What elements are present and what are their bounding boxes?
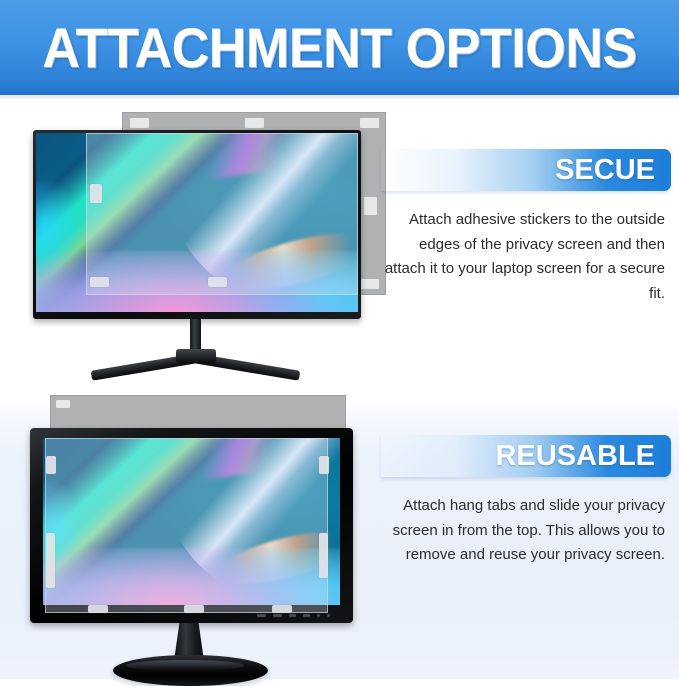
badge-reusable: REUSABLE — [381, 435, 671, 477]
hang-tab — [184, 605, 204, 613]
section-secure: SECUE Attach adhesive stickers to the ou… — [0, 99, 679, 393]
badge-label: REUSABLE — [495, 442, 655, 471]
control-button-icon[interactable] — [273, 614, 282, 617]
adhesive-sticker-on-screen — [90, 184, 102, 203]
control-button-icon[interactable] — [303, 614, 310, 617]
badge-secure: SECUE — [381, 149, 671, 191]
adhesive-sticker-on-screen — [90, 277, 109, 287]
header-banner: ATTACHMENT OPTIONS — [0, 0, 679, 95]
hang-tab — [46, 456, 56, 474]
adhesive-sticker — [364, 197, 377, 215]
adhesive-sticker-on-screen — [208, 277, 227, 287]
monitor-base-highlight — [126, 660, 244, 671]
hang-tab — [319, 456, 329, 474]
monitor-control-buttons[interactable] — [257, 614, 330, 617]
text-panel-secure: SECUE Attach adhesive stickers to the ou… — [381, 149, 671, 306]
adhesive-sticker — [360, 279, 379, 289]
monitor-base-hub — [176, 349, 216, 363]
power-button-icon[interactable] — [317, 614, 320, 617]
product-illustration-secure — [0, 99, 400, 393]
badge-label: SECUE — [555, 156, 655, 185]
power-led-icon[interactable] — [327, 614, 330, 617]
text-panel-reusable: REUSABLE Attach hang tabs and slide your… — [381, 435, 671, 568]
hang-tab — [272, 605, 292, 613]
hang-tab — [56, 400, 70, 408]
hang-tab — [319, 533, 328, 578]
page-title: ATTACHMENT OPTIONS — [42, 20, 636, 76]
privacy-film-overlay-secure — [86, 133, 358, 295]
adhesive-sticker — [360, 118, 379, 128]
adhesive-sticker — [245, 118, 264, 128]
description-secure: Attach adhesive stickers to the outside … — [381, 208, 671, 306]
description-reusable: Attach hang tabs and slide your privacy … — [381, 494, 671, 568]
hang-tab — [46, 533, 55, 588]
adhesive-sticker — [130, 118, 149, 128]
product-illustration-reusable — [0, 393, 400, 679]
privacy-film-overlay-reusable — [45, 438, 328, 613]
hang-tab — [88, 605, 108, 613]
section-reusable: REUSABLE Attach hang tabs and slide your… — [0, 393, 679, 679]
control-button-icon[interactable] — [289, 614, 296, 617]
control-button-icon[interactable] — [257, 614, 266, 617]
